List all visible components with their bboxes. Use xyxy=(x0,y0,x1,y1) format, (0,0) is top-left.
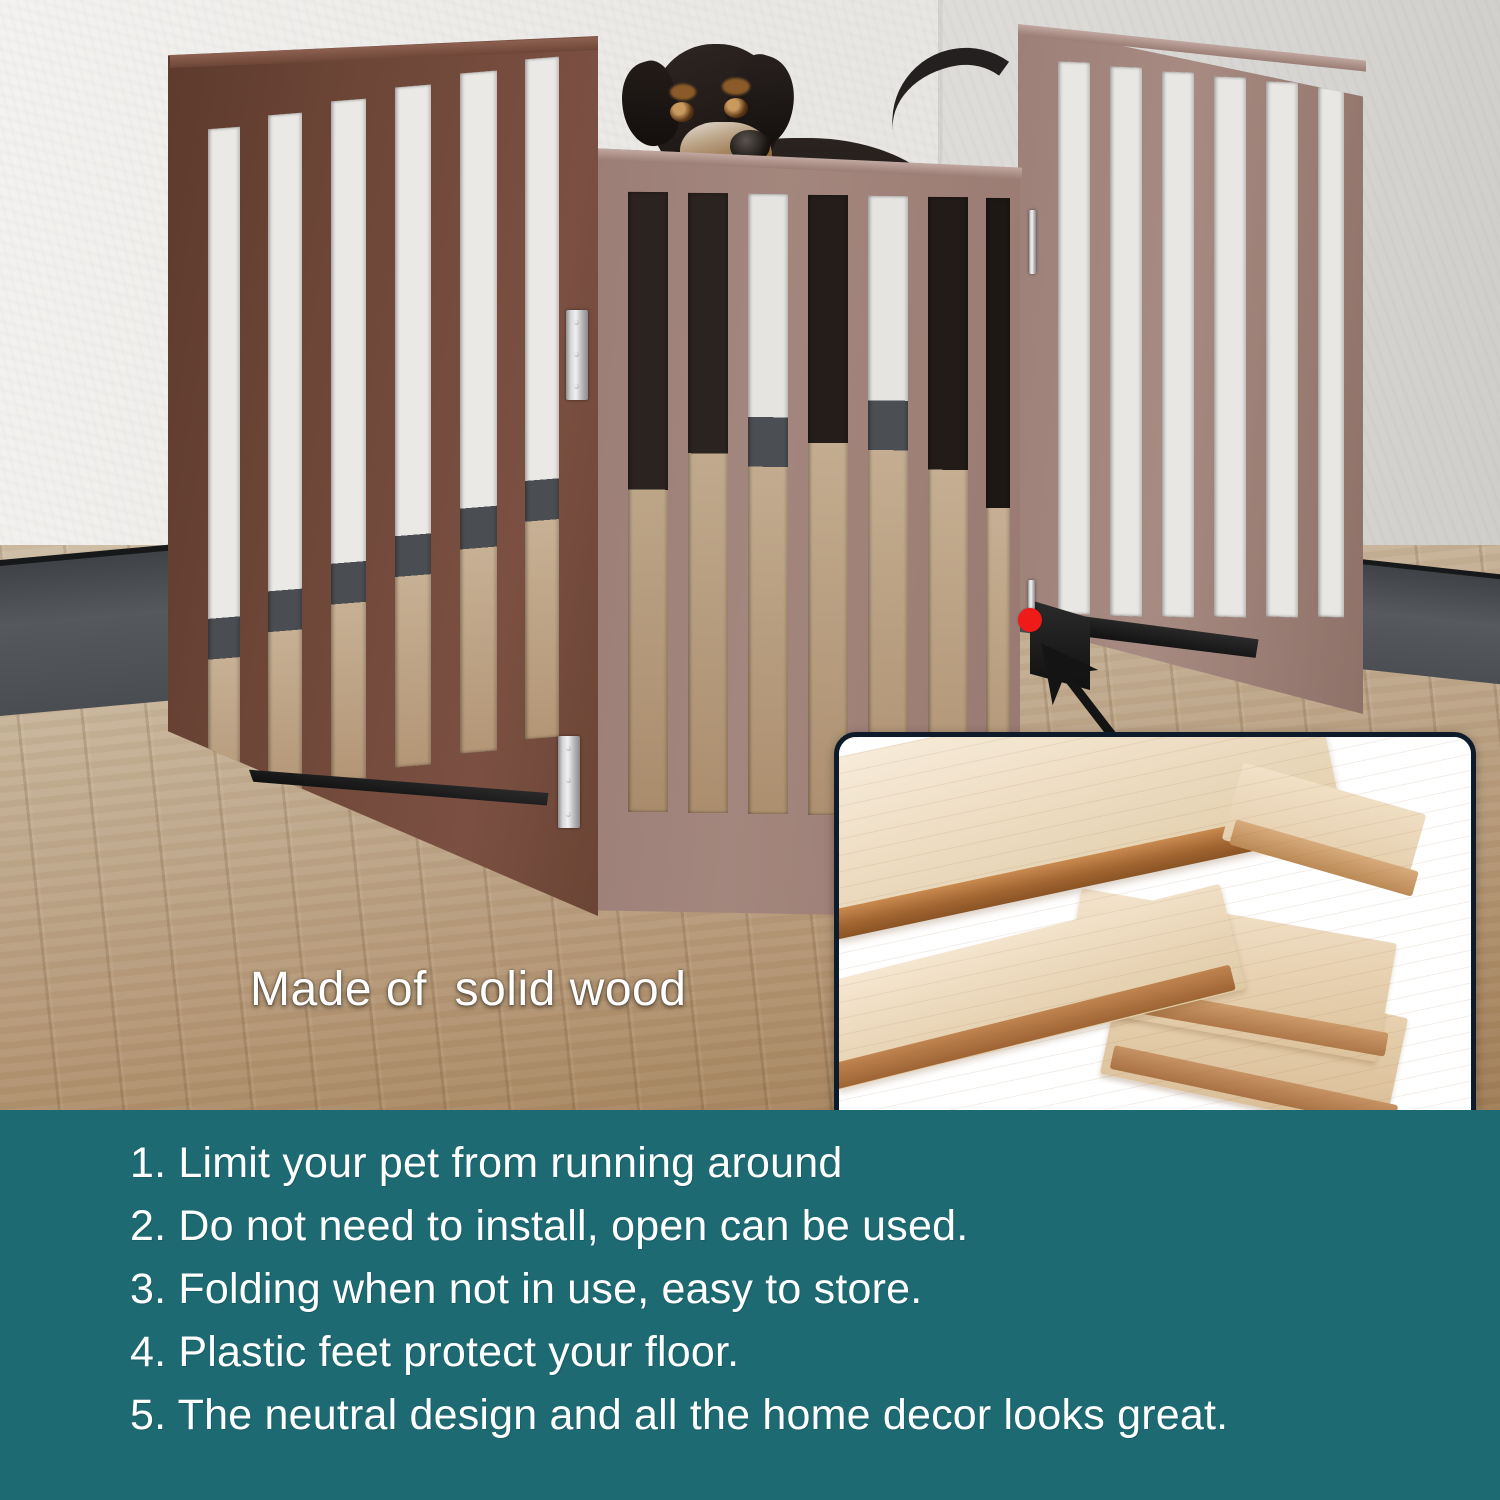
middle-panel-window xyxy=(748,194,788,814)
middle-panel-window xyxy=(868,196,908,816)
right-panel-window xyxy=(1318,87,1344,618)
middle-panel-window xyxy=(628,192,668,812)
hinge-screw xyxy=(566,812,571,817)
left-panel-window xyxy=(460,71,497,754)
left-panel-window xyxy=(525,57,559,740)
lifestyle-photo: Made of solid wood xyxy=(0,0,1500,1112)
left-panel-window xyxy=(331,99,366,782)
gate-hinge-right-upper xyxy=(1029,210,1036,274)
solid-wood-callout-dot xyxy=(1018,608,1042,632)
middle-panel-window xyxy=(808,195,848,815)
hinge-screw xyxy=(574,352,579,357)
hinge-screw xyxy=(566,746,571,751)
left-panel-window xyxy=(268,113,302,796)
wood-grain xyxy=(839,737,1471,1112)
feature-list: 1. Limit your pet from running around 2.… xyxy=(130,1128,1460,1457)
feature-item-4: 4. Plastic feet protect your floor. xyxy=(130,1331,1460,1374)
feature-item-5: 5. The neutral design and all the home d… xyxy=(130,1394,1460,1437)
gate-hinge-lower xyxy=(558,736,580,828)
right-panel-window xyxy=(1266,81,1298,617)
feature-item-1: 1. Limit your pet from running around xyxy=(130,1142,1460,1185)
right-panel-window xyxy=(1214,76,1246,617)
feature-item-3: 3. Folding when not in use, easy to stor… xyxy=(130,1268,1460,1311)
middle-panel-window xyxy=(688,193,728,813)
left-panel-window xyxy=(395,85,431,768)
right-panel-window xyxy=(1058,61,1090,614)
middle-panel-window xyxy=(928,197,968,817)
solid-wood-inset xyxy=(834,732,1476,1112)
gate-hinge-upper xyxy=(566,310,588,400)
gate-panel-right xyxy=(1018,24,1363,714)
middle-panel-window xyxy=(986,198,1010,818)
right-panel-window xyxy=(1110,66,1142,616)
hinge-screw xyxy=(566,778,571,783)
left-panel-window xyxy=(208,127,240,810)
caption-made-of-solid-wood: Made of solid wood xyxy=(250,962,686,1017)
right-panel-window xyxy=(1162,71,1194,617)
hinge-screw xyxy=(574,384,579,389)
feature-item-2: 2. Do not need to install, open can be u… xyxy=(130,1205,1460,1248)
hinge-screw xyxy=(574,320,579,325)
product-feature-image: Made of solid wood 1. Limit your xyxy=(0,0,1500,1500)
